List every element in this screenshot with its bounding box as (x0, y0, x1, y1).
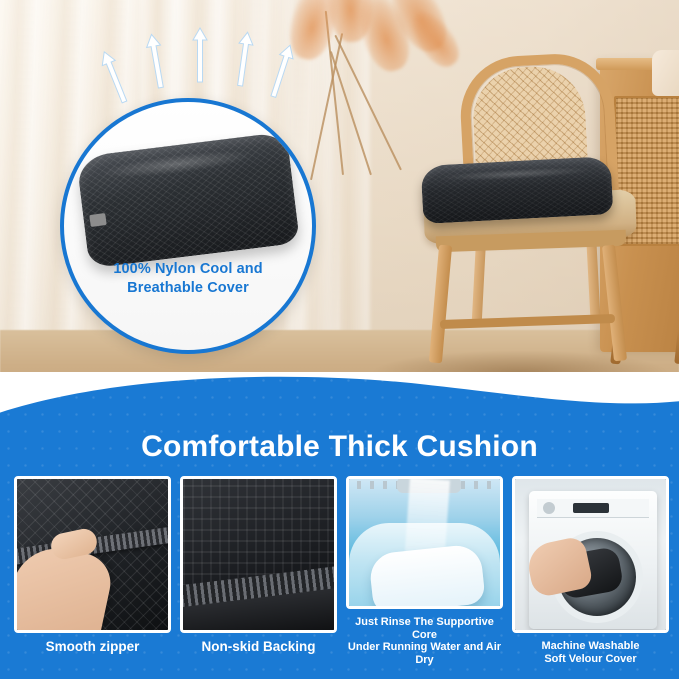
feature-tile-non-skid-backing: Non-skid Backing (180, 476, 337, 666)
cushion-highlight (102, 146, 251, 182)
supportive-core (368, 543, 486, 609)
feature-caption-line1: Just Rinse The Supportive Core (355, 616, 494, 641)
chair-leg (602, 245, 627, 362)
zipper-closeup-icon (14, 476, 171, 633)
cushion-brand-tag (89, 213, 107, 227)
feature-caption: Machine Washable Soft Velour Cover (512, 640, 669, 665)
feature-caption: Non-skid Backing (180, 640, 337, 654)
feature-caption-line1: Smooth zipper (46, 639, 140, 654)
callout-label: 100% Nylon Cool and Breathable Cover (64, 260, 312, 298)
feature-tile-list: Smooth zipper Non-skid Backing (14, 476, 665, 666)
feature-caption-line1: Non-skid Backing (201, 639, 315, 654)
feature-tile-smooth-zipper: Smooth zipper (14, 476, 171, 666)
callout-label-line1: 100% Nylon Cool and (113, 261, 262, 277)
airflow-arrow-icon (142, 31, 169, 89)
feature-caption-line2: Under Running Water and Air Dry (348, 641, 501, 666)
rattan-chair-icon (400, 55, 650, 365)
callout-circle: 100% Nylon Cool and Breathable Cover (60, 98, 316, 354)
product-infographic: 100% Nylon Cool and Breathable Cover Com… (0, 0, 679, 679)
feature-caption: Just Rinse The Supportive Core Under Run… (346, 616, 503, 666)
page-title: Comfortable Thick Cushion (0, 430, 679, 464)
feature-tile-machine-washable: Machine Washable Soft Velour Cover (512, 476, 669, 666)
feature-caption: Smooth zipper (14, 640, 171, 654)
rinse-under-water-icon (346, 476, 503, 609)
feature-banner: Comfortable Thick Cushion Smooth zipper (0, 372, 679, 679)
seat-cushion-icon (76, 131, 300, 268)
chair-leg (429, 245, 452, 364)
non-skid-backing-icon (180, 476, 337, 633)
feature-caption-line2: Soft Velour Cover (544, 653, 636, 665)
lifestyle-scene: 100% Nylon Cool and Breathable Cover (0, 0, 679, 420)
washer-knob (543, 502, 555, 514)
seat-cushion-on-chair-icon (421, 156, 614, 224)
callout-label-line2: Breathable Cover (127, 280, 249, 296)
vase-icon (652, 50, 679, 96)
washer-display (573, 503, 609, 513)
chair-stretcher (440, 314, 615, 329)
feature-caption-line1: Machine Washable (541, 640, 639, 652)
feature-tile-rinse-core: Just Rinse The Supportive Core Under Run… (346, 476, 503, 666)
washing-machine-icon (512, 476, 669, 633)
airflow-arrow-icon (231, 29, 257, 87)
airflow-arrow-icon (265, 41, 299, 100)
airflow-arrow-icon (95, 47, 133, 106)
airflow-arrow-icon (191, 26, 209, 82)
